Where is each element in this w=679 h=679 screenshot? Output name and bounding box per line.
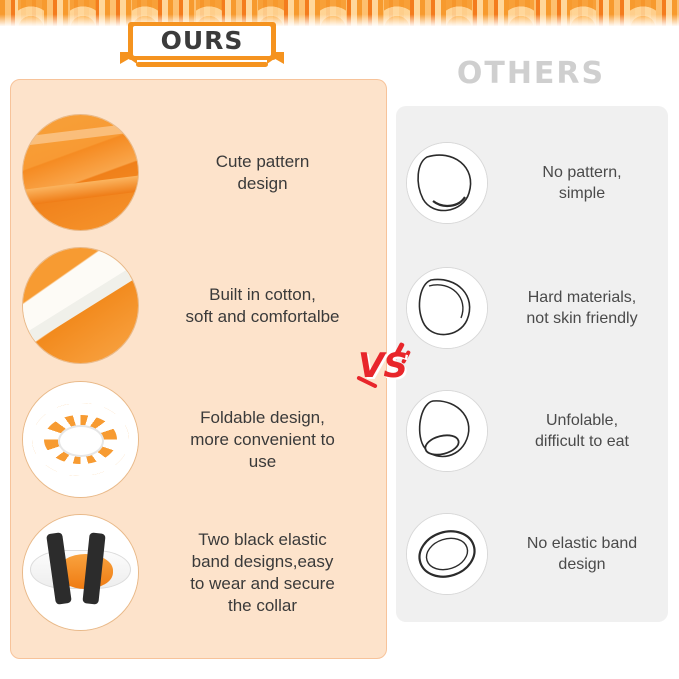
ours-image-4 [22,514,139,631]
ours-image-3 [22,381,139,498]
ours-row-4: Two black elastic band designs,easy to w… [22,510,382,635]
others-label-1: No pattern, simple [502,162,662,204]
others-row-2: Hard materials, not skin friendly [406,265,662,351]
ours-label-1: Cute pattern design [155,151,370,195]
others-image-3 [406,390,488,472]
others-image-4 [406,513,488,595]
others-image-1 [406,142,488,224]
others-label-2: Hard materials, not skin friendly [502,287,662,329]
others-label-4: No elastic band design [502,533,662,575]
others-row-1: No pattern, simple [406,140,662,226]
rigid-cone-sketch-icon [407,391,487,471]
others-image-2 [406,267,488,349]
ours-ribbon: OURS [128,22,276,64]
ribbon-underline [136,62,268,67]
vs-label: VS [358,346,407,386]
ours-title: OURS [128,26,276,56]
others-row-3: Unfolable, difficult to eat [406,388,662,474]
ours-row-3: Foldable design, more convenient to use [22,377,382,502]
hard-cone-sketch-icon [407,268,487,348]
ours-row-2: Built in cotton, soft and comfortalbe [22,243,382,368]
no-band-sketch-icon [407,514,487,594]
plain-cone-sketch-icon [407,143,487,223]
comparison-infographic: OURS OTHERS Cute pattern design Built in… [0,0,679,679]
ours-image-1 [22,114,139,231]
ours-image-2 [22,247,139,364]
others-row-4: No elastic band design [406,511,662,597]
others-title: OTHERS [386,54,676,94]
ours-row-1: Cute pattern design [22,110,382,235]
others-label-3: Unfolable, difficult to eat [502,410,662,452]
orange-slices-banner [0,0,679,26]
ours-label-3: Foldable design, more convenient to use [155,407,370,473]
ours-label-4: Two black elastic band designs,easy to w… [155,529,370,617]
ours-label-2: Built in cotton, soft and comfortalbe [155,284,370,328]
